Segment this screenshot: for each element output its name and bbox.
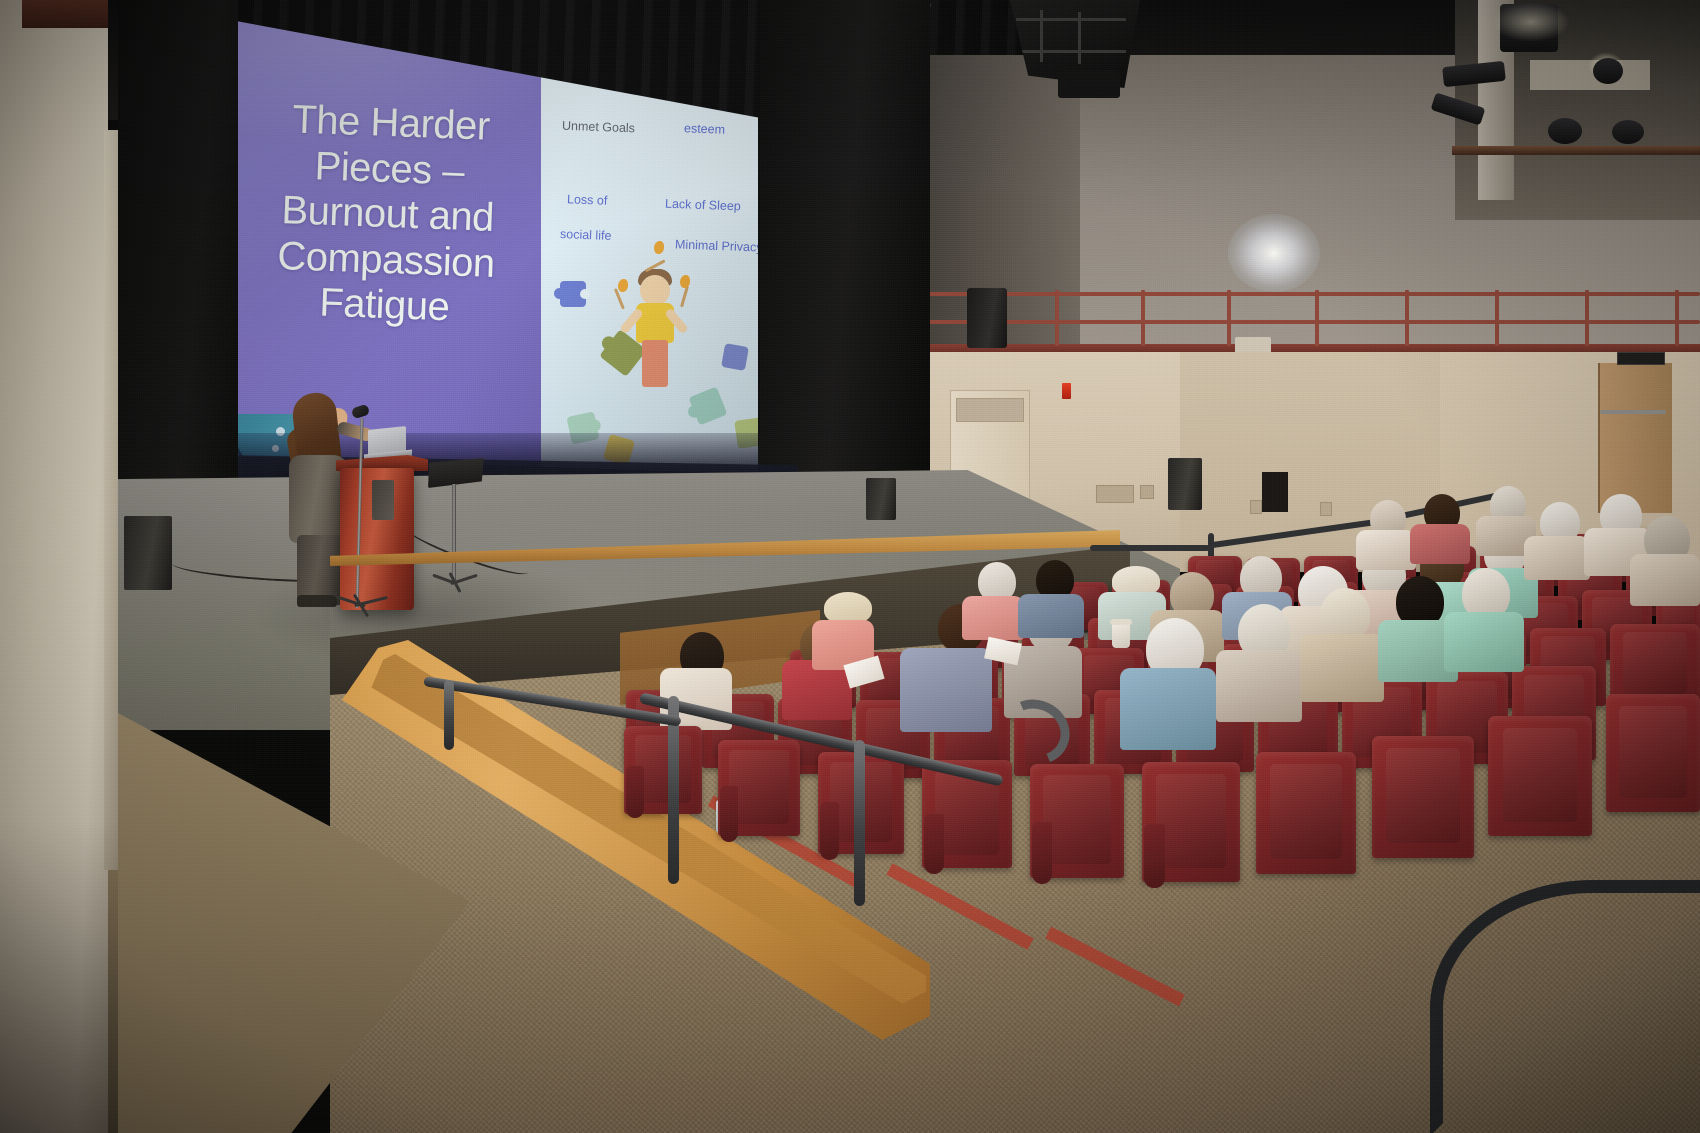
audience-torso-21 (1300, 634, 1384, 702)
music-stand-base (432, 574, 478, 588)
pillar-base-shadow (0, 820, 118, 1133)
music-stand-pole (452, 484, 456, 580)
auditorium-photo: The Harder Pieces – Burnout and Compassi… (0, 0, 1700, 1133)
microphone-stand-base (336, 596, 390, 608)
keyword-unmet-goals: Unmet Goals (562, 118, 635, 136)
stage-leg-right (760, 0, 930, 530)
loudspeaker (967, 288, 1007, 348)
podium-control-panel (372, 480, 394, 520)
seat-front-6-arm (1144, 824, 1165, 888)
handrail-post-2 (854, 740, 865, 906)
truss-light (1058, 70, 1120, 98)
wall-outlet-4 (1320, 502, 1332, 516)
keyword-esteem: esteem (684, 121, 726, 137)
wall-outlet-3 (1250, 500, 1262, 514)
character-head (640, 275, 670, 306)
stage-light-5 (1548, 118, 1582, 144)
seat-r4-12 (1610, 624, 1700, 704)
audience-torso-6 (1018, 594, 1084, 638)
presenter-shoes (297, 595, 337, 607)
juggling-baton-2 (680, 285, 689, 307)
aisle-handrail[interactable] (640, 656, 1060, 906)
rear-handrail-3 (1090, 545, 1210, 551)
juggler-character-illustration (630, 267, 686, 387)
coffee-cup-lid (1110, 619, 1132, 625)
keyword-minimal-privacy: Minimal Privacy (675, 238, 758, 256)
seat-front-8 (1372, 736, 1474, 858)
wall-wash-light (1228, 214, 1320, 292)
trash-bin (1235, 337, 1271, 353)
keyword-lack-of-sleep: Lack of Sleep (664, 197, 740, 215)
stage-light-4 (1593, 58, 1623, 84)
exit-push-bar[interactable] (1600, 410, 1666, 414)
juggling-flame-1 (618, 279, 628, 292)
wall-outlet-1 (1140, 485, 1154, 499)
exit-sign (1617, 352, 1665, 365)
pillar-edge-highlight (104, 130, 118, 870)
audience-torso-23 (1444, 612, 1524, 672)
slide-title-line-1: The Harder (249, 96, 532, 152)
keyword-loss-of: Loss of (566, 193, 607, 209)
stage-door-window (956, 398, 1024, 422)
stage-light-1-glow (1492, 2, 1570, 42)
puzzle-piece-teal (688, 387, 727, 426)
seat-front-10 (1606, 694, 1700, 812)
audience-torso-20 (1216, 650, 1302, 722)
audience-torso-19 (1120, 668, 1216, 750)
audience-torso-16 (1524, 536, 1590, 580)
audience-torso-18 (1630, 554, 1700, 606)
seat-front-9 (1488, 716, 1592, 836)
slide-title-panel: The Harder Pieces – Burnout and Compassi… (228, 14, 541, 474)
slide-title: The Harder Pieces – Burnout and Compassi… (243, 96, 533, 334)
pillar-cap-trim (22, 0, 108, 28)
handrail-top-bar (639, 692, 1004, 786)
floor-monitor-speaker-right (866, 478, 896, 520)
balcony-railing (905, 290, 1700, 346)
slide-title-line-5: Fatigue (243, 279, 526, 335)
juggling-flame-3 (654, 241, 664, 254)
catwalk-beam (1452, 146, 1700, 155)
stage-light-6 (1612, 120, 1644, 144)
audience-torso-5 (962, 596, 1024, 640)
puzzle-piece-indigo (721, 343, 749, 371)
wall-recess-dark (1262, 472, 1288, 512)
audience-torso-14 (1410, 524, 1470, 564)
fire-alarm-pull-station[interactable] (1062, 383, 1071, 399)
keyword-social-life: social life (560, 227, 612, 244)
audience-torso-13 (1356, 530, 1416, 570)
character-legs (642, 340, 668, 387)
seat-front-7 (1256, 752, 1356, 874)
stage-equipment-box (1168, 458, 1202, 510)
floor-monitor-speaker-left (124, 516, 172, 590)
puzzle-piece-blue (560, 281, 586, 307)
aisle-handrail-lower-post (444, 680, 454, 750)
wall-vent-panel (1096, 485, 1134, 503)
coffee-cup (1112, 622, 1130, 648)
exit-door[interactable] (1598, 363, 1672, 513)
juggling-flame-2 (680, 275, 690, 288)
